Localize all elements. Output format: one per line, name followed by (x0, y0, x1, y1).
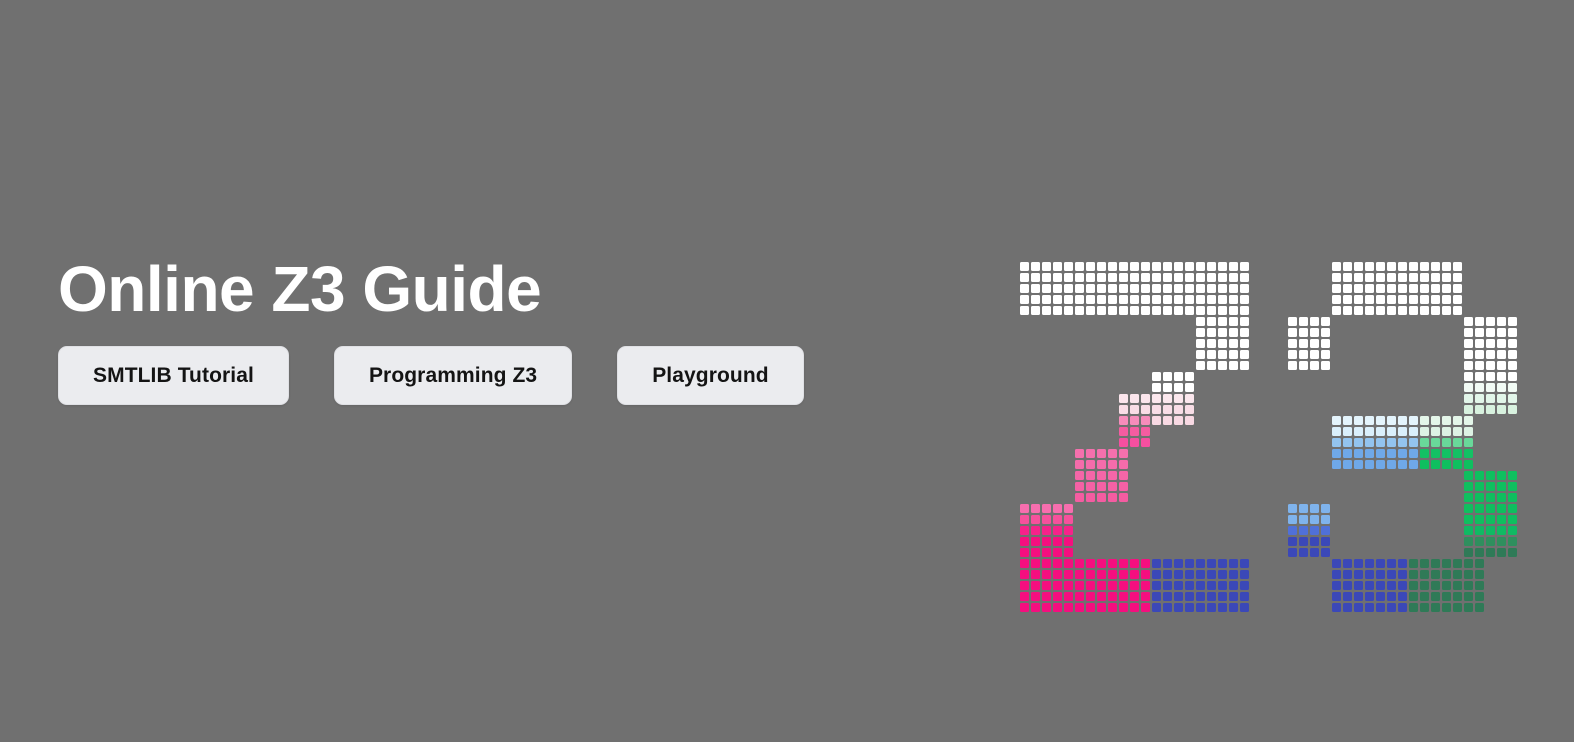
logo-pixel (1141, 603, 1150, 612)
logo-pixel (1475, 526, 1484, 535)
logo-pixel (1064, 537, 1073, 546)
logo-pixel (1064, 548, 1073, 557)
logo-pixel (1453, 273, 1462, 282)
logo-pixel (1020, 504, 1029, 513)
logo-pixel (1398, 438, 1407, 447)
logo-pixel (1108, 449, 1117, 458)
logo-pixel (1486, 372, 1495, 381)
hero-button-group: SMTLIB Tutorial Programming Z3 Playgroun… (58, 346, 958, 405)
logo-pixel (1240, 295, 1249, 304)
logo-pixel (1108, 460, 1117, 469)
logo-pixel (1207, 284, 1216, 293)
logo-pixel (1163, 372, 1172, 381)
logo-pixel (1354, 449, 1363, 458)
logo-pixel (1486, 548, 1495, 557)
logo-pixel (1218, 284, 1227, 293)
logo-pixel (1240, 306, 1249, 315)
logo-pixel (1310, 504, 1319, 513)
page-title: Online Z3 Guide (58, 255, 958, 324)
logo-pixel (1130, 581, 1139, 590)
logo-pixel (1453, 284, 1462, 293)
logo-pixel (1387, 306, 1396, 315)
logo-pixel (1229, 328, 1238, 337)
playground-button[interactable]: Playground (617, 346, 804, 405)
logo-pixel (1141, 559, 1150, 568)
logo-pixel (1207, 603, 1216, 612)
logo-pixel (1310, 548, 1319, 557)
logo-pixel (1343, 592, 1352, 601)
logo-pixel (1288, 504, 1297, 513)
logo-pixel (1141, 306, 1150, 315)
logo-pixel (1310, 515, 1319, 524)
logo-pixel (1086, 592, 1095, 601)
logo-pixel (1475, 383, 1484, 392)
logo-pixel (1196, 592, 1205, 601)
logo-pixel (1064, 559, 1073, 568)
logo-pixel (1163, 581, 1172, 590)
logo-pixel (1299, 350, 1308, 359)
logo-pixel (1398, 581, 1407, 590)
logo-pixel (1420, 581, 1429, 590)
logo-pixel (1431, 427, 1440, 436)
logo-pixel (1464, 548, 1473, 557)
logo-pixel (1343, 306, 1352, 315)
logo-pixel (1332, 438, 1341, 447)
logo-pixel (1453, 592, 1462, 601)
logo-pixel (1398, 416, 1407, 425)
logo-pixel (1086, 460, 1095, 469)
logo-pixel (1141, 273, 1150, 282)
logo-pixel (1119, 394, 1128, 403)
logo-pixel (1310, 537, 1319, 546)
logo-pixel (1141, 581, 1150, 590)
logo-pixel (1376, 416, 1385, 425)
logo-pixel (1097, 581, 1106, 590)
logo-pixel (1042, 570, 1051, 579)
logo-pixel (1119, 306, 1128, 315)
logo-pixel (1343, 262, 1352, 271)
logo-pixel (1075, 284, 1084, 293)
logo-pixel (1097, 306, 1106, 315)
logo-pixel (1343, 295, 1352, 304)
logo-pixel (1409, 416, 1418, 425)
logo-pixel (1299, 317, 1308, 326)
logo-pixel (1119, 427, 1128, 436)
logo-pixel (1398, 570, 1407, 579)
logo-pixel (1475, 482, 1484, 491)
logo-pixel (1119, 559, 1128, 568)
logo-pixel (1020, 537, 1029, 546)
logo-pixel (1207, 581, 1216, 590)
logo-pixel (1420, 306, 1429, 315)
logo-pixel (1229, 306, 1238, 315)
logo-pixel (1229, 273, 1238, 282)
logo-pixel (1042, 504, 1051, 513)
logo-pixel (1163, 559, 1172, 568)
logo-pixel (1475, 570, 1484, 579)
logo-pixel (1409, 427, 1418, 436)
logo-pixel (1453, 570, 1462, 579)
logo-pixel (1321, 548, 1330, 557)
logo-pixel (1075, 592, 1084, 601)
logo-pixel (1185, 306, 1194, 315)
logo-pixel (1086, 603, 1095, 612)
logo-pixel (1442, 460, 1451, 469)
logo-pixel (1119, 493, 1128, 502)
logo-pixel (1042, 603, 1051, 612)
logo-pixel (1207, 592, 1216, 601)
logo-pixel (1141, 570, 1150, 579)
logo-pixel (1053, 515, 1062, 524)
logo-pixel (1196, 284, 1205, 293)
logo-pixel (1119, 416, 1128, 425)
logo-pixel (1475, 592, 1484, 601)
logo-pixel (1031, 537, 1040, 546)
logo-pixel (1108, 493, 1117, 502)
logo-pixel (1475, 339, 1484, 348)
logo-pixel (1332, 273, 1341, 282)
logo-pixel (1031, 581, 1040, 590)
logo-pixel (1464, 570, 1473, 579)
logo-pixel (1064, 603, 1073, 612)
logo-pixel (1064, 295, 1073, 304)
logo-pixel (1240, 592, 1249, 601)
logo-pixel (1343, 581, 1352, 590)
logo-pixel (1119, 482, 1128, 491)
logo-pixel (1442, 603, 1451, 612)
logo-pixel (1475, 515, 1484, 524)
logo-pixel (1497, 526, 1506, 535)
logo-pixel (1130, 603, 1139, 612)
logo-pixel (1398, 262, 1407, 271)
logo-pixel (1365, 570, 1374, 579)
logo-pixel (1108, 273, 1117, 282)
logo-pixel (1420, 438, 1429, 447)
logo-pixel (1053, 548, 1062, 557)
logo-pixel (1075, 581, 1084, 590)
logo-pixel (1508, 394, 1517, 403)
logo-pixel (1497, 372, 1506, 381)
logo-pixel (1464, 559, 1473, 568)
logo-pixel (1420, 603, 1429, 612)
logo-pixel (1464, 427, 1473, 436)
logo-pixel (1354, 416, 1363, 425)
logo-pixel (1042, 262, 1051, 271)
logo-pixel (1185, 394, 1194, 403)
logo-pixel (1431, 284, 1440, 293)
logo-pixel (1442, 559, 1451, 568)
logo-pixel (1031, 306, 1040, 315)
logo-pixel (1042, 537, 1051, 546)
logo-pixel (1185, 405, 1194, 414)
logo-pixel (1130, 570, 1139, 579)
logo-pixel (1310, 526, 1319, 535)
logo-pixel (1086, 262, 1095, 271)
logo-pixel (1086, 559, 1095, 568)
logo-pixel (1240, 361, 1249, 370)
logo-pixel (1229, 317, 1238, 326)
logo-pixel (1163, 284, 1172, 293)
logo-pixel (1064, 526, 1073, 535)
logo-pixel (1152, 581, 1161, 590)
logo-pixel (1354, 438, 1363, 447)
logo-pixel (1365, 603, 1374, 612)
logo-pixel (1075, 570, 1084, 579)
logo-pixel (1497, 405, 1506, 414)
logo-pixel (1174, 383, 1183, 392)
logo-pixel (1464, 383, 1473, 392)
smtlib-tutorial-button[interactable]: SMTLIB Tutorial (58, 346, 289, 405)
logo-pixel (1475, 603, 1484, 612)
logo-pixel (1508, 350, 1517, 359)
logo-pixel (1119, 262, 1128, 271)
logo-pixel (1321, 537, 1330, 546)
logo-pixel (1020, 273, 1029, 282)
logo-pixel (1343, 284, 1352, 293)
z3-pixel-logo (1020, 262, 1520, 582)
logo-pixel (1332, 416, 1341, 425)
logo-pixel (1163, 592, 1172, 601)
logo-pixel (1185, 592, 1194, 601)
logo-pixel (1240, 603, 1249, 612)
logo-pixel (1387, 449, 1396, 458)
logo-pixel (1086, 570, 1095, 579)
logo-pixel (1486, 339, 1495, 348)
logo-pixel (1240, 350, 1249, 359)
logo-pixel (1196, 273, 1205, 282)
logo-pixel (1031, 559, 1040, 568)
logo-pixel (1343, 603, 1352, 612)
logo-pixel (1420, 416, 1429, 425)
logo-pixel (1064, 262, 1073, 271)
logo-pixel (1442, 427, 1451, 436)
logo-pixel (1431, 295, 1440, 304)
logo-pixel (1119, 581, 1128, 590)
logo-pixel (1218, 559, 1227, 568)
logo-pixel (1288, 526, 1297, 535)
logo-pixel (1486, 317, 1495, 326)
logo-pixel (1442, 570, 1451, 579)
logo-pixel (1365, 284, 1374, 293)
logo-pixel (1343, 273, 1352, 282)
logo-pixel (1365, 559, 1374, 568)
logo-pixel (1288, 537, 1297, 546)
logo-pixel (1207, 306, 1216, 315)
logo-pixel (1497, 548, 1506, 557)
logo-pixel (1075, 493, 1084, 502)
logo-pixel (1508, 372, 1517, 381)
logo-pixel (1130, 273, 1139, 282)
logo-pixel (1053, 526, 1062, 535)
logo-pixel (1420, 295, 1429, 304)
logo-pixel (1097, 262, 1106, 271)
logo-pixel (1163, 273, 1172, 282)
logo-pixel (1354, 427, 1363, 436)
logo-pixel (1332, 559, 1341, 568)
programming-z3-button[interactable]: Programming Z3 (334, 346, 572, 405)
logo-pixel (1108, 262, 1117, 271)
logo-pixel (1332, 581, 1341, 590)
logo-pixel (1053, 284, 1062, 293)
logo-pixel (1207, 570, 1216, 579)
logo-pixel (1097, 592, 1106, 601)
logo-pixel (1119, 295, 1128, 304)
logo-pixel (1097, 284, 1106, 293)
logo-pixel (1376, 570, 1385, 579)
logo-pixel (1097, 559, 1106, 568)
logo-pixel (1453, 427, 1462, 436)
logo-pixel (1376, 295, 1385, 304)
logo-pixel (1442, 284, 1451, 293)
logo-pixel (1321, 350, 1330, 359)
logo-pixel (1152, 262, 1161, 271)
logo-pixel (1398, 460, 1407, 469)
logo-pixel (1365, 427, 1374, 436)
logo-pixel (1332, 262, 1341, 271)
logo-pixel (1174, 262, 1183, 271)
logo-pixel (1508, 504, 1517, 513)
logo-pixel (1196, 262, 1205, 271)
logo-pixel (1497, 515, 1506, 524)
logo-pixel (1486, 350, 1495, 359)
logo-pixel (1486, 328, 1495, 337)
logo-pixel (1299, 328, 1308, 337)
logo-pixel (1497, 328, 1506, 337)
logo-pixel (1398, 592, 1407, 601)
logo-pixel (1108, 603, 1117, 612)
logo-pixel (1464, 438, 1473, 447)
logo-pixel (1453, 416, 1462, 425)
logo-pixel (1299, 339, 1308, 348)
logo-pixel (1130, 416, 1139, 425)
logo-pixel (1310, 317, 1319, 326)
logo-pixel (1119, 284, 1128, 293)
logo-pixel (1420, 570, 1429, 579)
logo-pixel (1031, 603, 1040, 612)
logo-pixel (1152, 273, 1161, 282)
logo-pixel (1053, 581, 1062, 590)
logo-pixel (1398, 427, 1407, 436)
logo-pixel (1431, 581, 1440, 590)
logo-pixel (1310, 361, 1319, 370)
logo-pixel (1365, 449, 1374, 458)
logo-pixel (1240, 317, 1249, 326)
logo-pixel (1185, 273, 1194, 282)
logo-pixel (1497, 317, 1506, 326)
logo-pixel (1508, 317, 1517, 326)
logo-pixel (1464, 460, 1473, 469)
logo-pixel (1185, 383, 1194, 392)
logo-pixel (1031, 273, 1040, 282)
logo-pixel (1420, 592, 1429, 601)
logo-pixel (1141, 592, 1150, 601)
logo-pixel (1196, 350, 1205, 359)
logo-pixel (1207, 317, 1216, 326)
logo-pixel (1354, 273, 1363, 282)
logo-pixel (1097, 449, 1106, 458)
logo-pixel (1020, 515, 1029, 524)
logo-pixel (1387, 262, 1396, 271)
logo-pixel (1442, 273, 1451, 282)
logo-pixel (1130, 295, 1139, 304)
logo-pixel (1398, 273, 1407, 282)
logo-pixel (1218, 592, 1227, 601)
logo-pixel (1053, 559, 1062, 568)
logo-pixel (1409, 295, 1418, 304)
logo-pixel (1229, 284, 1238, 293)
logo-pixel (1042, 306, 1051, 315)
logo-pixel (1365, 416, 1374, 425)
logo-pixel (1409, 306, 1418, 315)
logo-pixel (1185, 416, 1194, 425)
logo-pixel (1152, 295, 1161, 304)
logo-pixel (1508, 383, 1517, 392)
logo-pixel (1152, 405, 1161, 414)
logo-pixel (1321, 361, 1330, 370)
logo-pixel (1420, 460, 1429, 469)
logo-pixel (1053, 273, 1062, 282)
logo-pixel (1031, 570, 1040, 579)
logo-pixel (1431, 262, 1440, 271)
logo-pixel (1119, 460, 1128, 469)
logo-pixel (1354, 295, 1363, 304)
logo-pixel (1288, 515, 1297, 524)
logo-pixel (1431, 603, 1440, 612)
logo-pixel (1354, 460, 1363, 469)
logo-pixel (1130, 559, 1139, 568)
logo-pixel (1240, 570, 1249, 579)
logo-pixel (1240, 339, 1249, 348)
logo-pixel (1288, 361, 1297, 370)
logo-pixel (1229, 592, 1238, 601)
logo-pixel (1464, 471, 1473, 480)
logo-pixel (1409, 262, 1418, 271)
logo-pixel (1475, 504, 1484, 513)
logo-pixel (1453, 603, 1462, 612)
logo-pixel (1299, 537, 1308, 546)
logo-pixel (1075, 559, 1084, 568)
hero-section: Online Z3 Guide SMTLIB Tutorial Programm… (58, 255, 958, 405)
logo-pixel (1196, 361, 1205, 370)
logo-pixel (1365, 273, 1374, 282)
logo-pixel (1442, 416, 1451, 425)
logo-pixel (1321, 317, 1330, 326)
logo-pixel (1475, 394, 1484, 403)
logo-pixel (1097, 273, 1106, 282)
logo-pixel (1141, 438, 1150, 447)
logo-pixel (1075, 262, 1084, 271)
logo-pixel (1218, 361, 1227, 370)
logo-pixel (1387, 603, 1396, 612)
logo-pixel (1119, 471, 1128, 480)
logo-pixel (1387, 438, 1396, 447)
logo-pixel (1497, 482, 1506, 491)
logo-pixel (1196, 339, 1205, 348)
logo-pixel (1486, 493, 1495, 502)
logo-pixel (1130, 427, 1139, 436)
logo-pixel (1240, 273, 1249, 282)
logo-pixel (1174, 284, 1183, 293)
logo-pixel (1376, 262, 1385, 271)
logo-pixel (1332, 592, 1341, 601)
logo-pixel (1075, 449, 1084, 458)
logo-pixel (1020, 526, 1029, 535)
logo-pixel (1475, 559, 1484, 568)
logo-pixel (1321, 515, 1330, 524)
logo-pixel (1141, 284, 1150, 293)
logo-pixel (1475, 581, 1484, 590)
logo-pixel (1218, 581, 1227, 590)
